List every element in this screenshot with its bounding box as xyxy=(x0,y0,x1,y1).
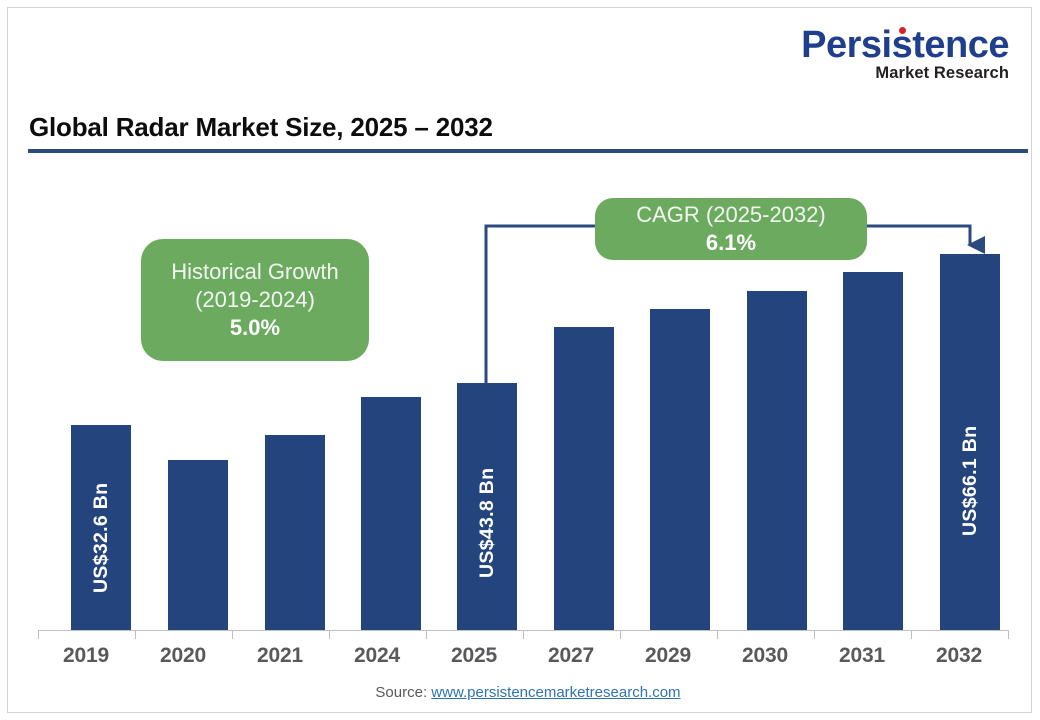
bar-2024 xyxy=(361,397,421,630)
historical-growth-callout: Historical Growth (2019-2024) 5.0% xyxy=(141,239,369,361)
x-axis-tick xyxy=(329,630,330,639)
x-axis-tick xyxy=(232,630,233,639)
bar-2021 xyxy=(265,435,325,630)
historical-callout-line1: Historical Growth xyxy=(171,258,338,286)
x-label-2019: 2019 xyxy=(41,644,131,668)
x-axis-tick xyxy=(523,630,524,639)
x-label-2031: 2031 xyxy=(817,644,907,668)
cagr-callout: CAGR (2025-2032) 6.1% xyxy=(595,198,867,260)
bar-label-2019: US$32.6 Bn xyxy=(90,483,113,593)
bar-2027 xyxy=(554,327,614,630)
x-label-2029: 2029 xyxy=(623,644,713,668)
historical-callout-line2: (2019-2024) xyxy=(195,286,315,314)
bar-2030 xyxy=(747,291,807,630)
x-axis-tick xyxy=(38,630,39,639)
x-label-2027: 2027 xyxy=(526,644,616,668)
bar-2020 xyxy=(168,460,228,630)
x-axis-tick xyxy=(814,630,815,639)
x-label-2021: 2021 xyxy=(235,644,325,668)
chart-card: Persistence Market Research Global Radar… xyxy=(7,7,1032,713)
bar-label-2025: US$43.8 Bn xyxy=(476,468,499,578)
x-label-2020: 2020 xyxy=(138,644,228,668)
x-axis-tick xyxy=(1008,630,1009,639)
x-label-2032: 2032 xyxy=(914,644,1004,668)
x-axis-tick xyxy=(911,630,912,639)
x-axis-tick xyxy=(717,630,718,639)
historical-callout-value: 5.0% xyxy=(230,314,280,343)
bar-2031 xyxy=(843,272,903,630)
source-line: Source: www.persistencemarketresearch.co… xyxy=(8,684,1040,701)
cagr-callout-line1: CAGR (2025-2032) xyxy=(636,201,826,229)
source-url-link[interactable]: www.persistencemarketresearch.com xyxy=(431,684,680,701)
chart-page: Persistence Market Research Global Radar… xyxy=(0,0,1040,720)
x-axis-tick xyxy=(426,630,427,639)
source-prefix: Source: xyxy=(375,684,427,701)
bar-label-2032: US$66.1 Bn xyxy=(959,426,982,536)
x-axis-tick xyxy=(620,630,621,639)
bar-chart-plot: US$32.6 Bn US$43.8 Bn US$66.1 Bn xyxy=(8,8,1040,720)
x-label-2030: 2030 xyxy=(720,644,810,668)
x-label-2024: 2024 xyxy=(332,644,422,668)
x-label-2025: 2025 xyxy=(429,644,519,668)
bar-2029 xyxy=(650,309,710,630)
cagr-callout-value: 6.1% xyxy=(706,229,756,258)
x-axis-tick xyxy=(135,630,136,639)
